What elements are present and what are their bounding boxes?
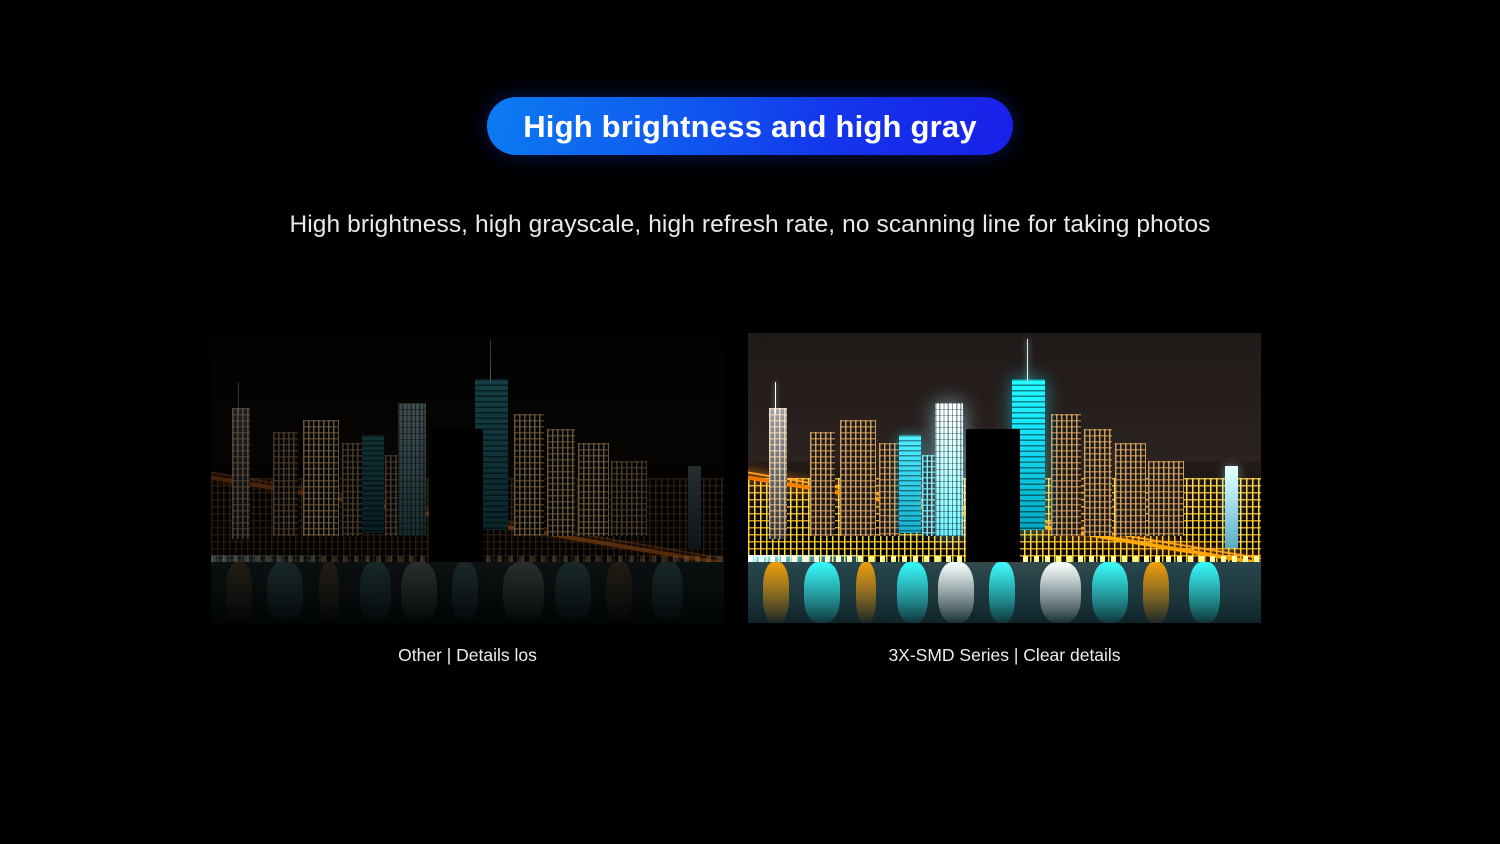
building-block (1115, 443, 1146, 536)
comparison-panels: Other | Details los (211, 333, 1261, 693)
building-block (1084, 429, 1112, 536)
building-block (611, 461, 647, 536)
one-world-trade-spire (490, 339, 492, 383)
building-block (342, 443, 363, 536)
building-block (273, 432, 299, 536)
comparison-item-right: 3X-SMD Series | Clear details (748, 333, 1261, 623)
caption-right: 3X-SMD Series | Clear details (748, 645, 1261, 666)
building-block (303, 420, 339, 536)
building-block (1148, 461, 1184, 536)
badge-container: High brightness and high gray (0, 97, 1500, 155)
headline-badge: High brightness and high gray (487, 97, 1013, 155)
building-block (922, 455, 935, 536)
building-block (879, 443, 900, 536)
spire-building (769, 408, 787, 539)
building-block (578, 443, 609, 536)
building-block (810, 432, 836, 536)
glass-tower (935, 403, 963, 536)
spire-tip (775, 382, 776, 414)
night-skyline-photo-right (748, 333, 1261, 623)
building-block (547, 429, 575, 536)
spire-tip (238, 382, 239, 414)
edge-tower (688, 466, 701, 547)
spire-building (232, 408, 250, 539)
cyan-tower (899, 435, 921, 534)
cyan-tower (362, 435, 384, 534)
glass-tower (398, 403, 426, 536)
bridge-tower (966, 429, 1020, 562)
night-skyline-photo-left (211, 333, 724, 623)
building-block (1051, 414, 1082, 536)
comparison-item-left: Other | Details los (211, 333, 724, 623)
water-layer (748, 562, 1261, 623)
caption-left: Other | Details los (211, 645, 724, 666)
building-block (385, 455, 398, 536)
edge-tower (1225, 466, 1238, 547)
bridge-tower (429, 429, 483, 562)
headline-badge-label: High brightness and high gray (523, 111, 977, 142)
water-layer (211, 562, 724, 623)
subtitle-text: High brightness, high grayscale, high re… (0, 211, 1500, 239)
one-world-trade-spire (1027, 339, 1029, 383)
building-block (514, 414, 545, 536)
building-block (840, 420, 876, 536)
